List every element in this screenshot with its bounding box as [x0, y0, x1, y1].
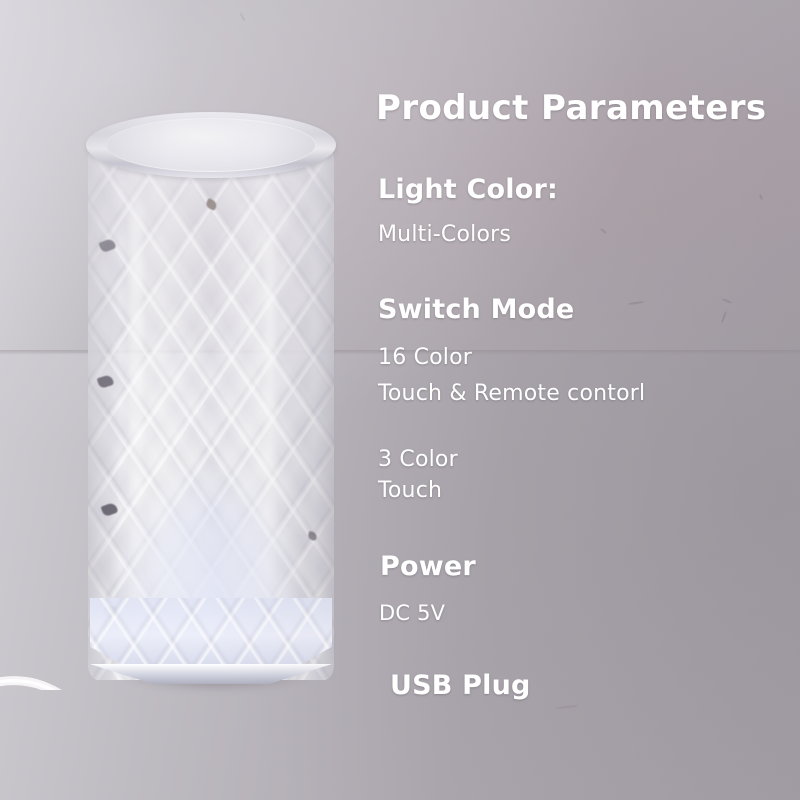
spec-value-3-color: 3 Color: [378, 447, 458, 472]
panel-title: Product Parameters: [376, 88, 767, 128]
spec-heading-usb-plug: USB Plug: [390, 670, 531, 701]
spec-value-touch: Touch: [378, 478, 442, 503]
spec-value-power: DC 5V: [379, 601, 445, 625]
spec-value-light-color: Multi-Colors: [378, 222, 511, 247]
spec-heading-switch-mode: Switch Mode: [378, 294, 574, 325]
spec-heading-power: Power: [380, 551, 476, 582]
spec-value-16-color: 16 Color: [378, 345, 472, 370]
product-parameters-panel: Product Parameters Light Color: Multi-Co…: [0, 0, 800, 800]
product-scene: Product Parameters Light Color: Multi-Co…: [0, 0, 800, 800]
spec-value-touch-remote: Touch & Remote contorl: [378, 381, 645, 406]
spec-heading-light-color: Light Color:: [378, 174, 558, 205]
